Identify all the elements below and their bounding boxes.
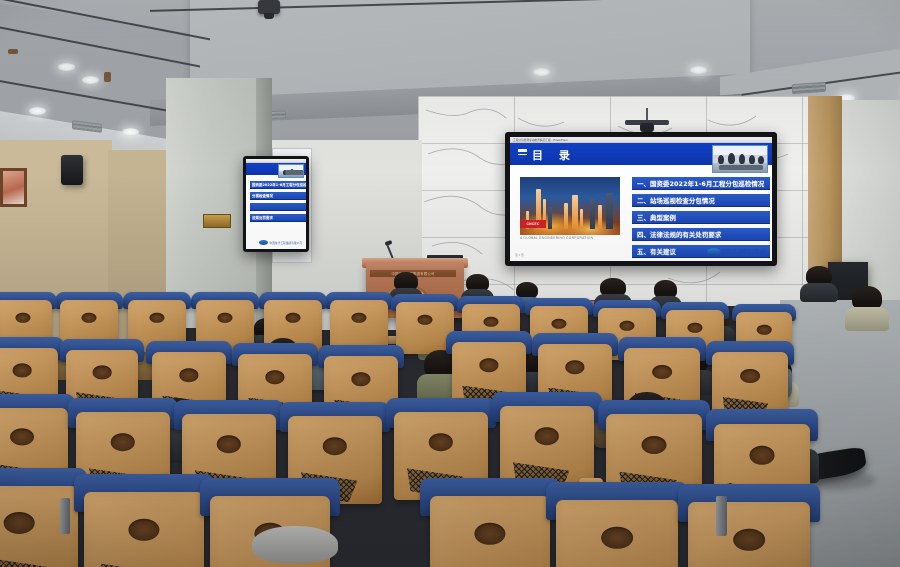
auditorium-seat[interactable] bbox=[430, 496, 550, 567]
auditorium-seat[interactable] bbox=[688, 502, 810, 567]
secondary-toc: 国资委2022年1-6月工程分包巡检情况 分视检查情况 法规处罚要求 bbox=[250, 181, 306, 225]
toc-item-label: 一、国资委2022年1-6月工程分包巡检情况 bbox=[632, 179, 764, 188]
attendee bbox=[806, 266, 832, 298]
presentation-slide: 工程分包管理专项检查情况汇报 - PowerPoint 目 录 bbox=[510, 137, 772, 261]
toc-item[interactable]: 一、国资委2022年1-6月工程分包巡检情况 bbox=[632, 177, 770, 190]
main-display[interactable]: 工程分包管理专项检查情况汇报 - PowerPoint 目 录 bbox=[505, 132, 777, 266]
toc-item[interactable]: 二、站场巡视检查分包情况 bbox=[632, 194, 770, 207]
secondary-slide: 国资委2022年1-6月工程分包巡检情况 分视检查情况 法规处罚要求 中国化学工… bbox=[246, 159, 306, 249]
downlight bbox=[82, 76, 99, 84]
slide-title: 目 录 bbox=[532, 147, 576, 163]
refinery-photo: CNCEC bbox=[520, 177, 620, 235]
toc-item-label: 法规处罚要求 bbox=[250, 215, 273, 220]
video-conference-inset[interactable] bbox=[712, 145, 768, 173]
downlight bbox=[58, 63, 75, 71]
downlight bbox=[122, 128, 139, 136]
camera-icon bbox=[640, 123, 654, 132]
company-name: 中国化学工程集团有限公司 bbox=[722, 249, 766, 254]
ppt-titlebar-text: 工程分包管理专项检查情况汇报 - PowerPoint bbox=[513, 138, 568, 142]
sprinkler-icon bbox=[8, 49, 18, 54]
wall-plaque bbox=[203, 214, 231, 228]
toc-item[interactable] bbox=[250, 203, 306, 211]
slide-page-note: 第 2 页 bbox=[515, 253, 524, 257]
auditorium-seat[interactable] bbox=[556, 500, 678, 567]
toc-item-label: 五、有关建议 bbox=[632, 247, 676, 256]
conference-hall-scene: 国资委2022年1-6月工程分包巡检情况 分视检查情况 法规处罚要求 中国化学工… bbox=[0, 0, 900, 567]
slide-footer-logo: 中国化学工程集团有限公司 bbox=[707, 248, 766, 255]
photo-caption: A GLOBAL ENGINEERING CORPORATION bbox=[520, 236, 630, 240]
secondary-footer-logo: 中国化学工程集团有限公司 bbox=[259, 240, 302, 245]
toc-item[interactable]: 国资委2022年1-6月工程分包巡检情况 bbox=[250, 181, 306, 189]
downlight bbox=[533, 68, 550, 76]
video-conference-inset-secondary bbox=[278, 164, 304, 178]
toc-item-label: 国资委2022年1-6月工程分包巡检情况 bbox=[250, 182, 306, 187]
company-logo-icon bbox=[259, 240, 268, 245]
attendee-foreground bbox=[252, 526, 338, 567]
downlight bbox=[690, 66, 707, 74]
company-logo-icon bbox=[707, 248, 720, 255]
toc-item-label: 分视检查情况 bbox=[250, 193, 273, 198]
company-name: 中国化学工程集团有限公司 bbox=[270, 241, 302, 245]
secondary-display[interactable]: 国资委2022年1-6月工程分包巡检情况 分视检查情况 法规处罚要求 中国化学工… bbox=[243, 156, 309, 252]
toc-item[interactable]: 法规处罚要求 bbox=[250, 214, 306, 222]
cncec-logo: CNCEC bbox=[520, 220, 546, 228]
toc-item[interactable]: 四、法律法规的有关处罚要求 bbox=[632, 228, 770, 241]
toc-item-label: 三、典型案例 bbox=[632, 213, 676, 222]
attendee bbox=[852, 286, 882, 326]
camera-icon bbox=[258, 0, 280, 14]
auditorium-seat[interactable] bbox=[84, 492, 204, 567]
framed-picture bbox=[0, 168, 27, 207]
toc-item[interactable]: 三、典型案例 bbox=[632, 211, 770, 224]
downlight bbox=[29, 107, 46, 115]
seat-leg bbox=[60, 498, 70, 534]
toc-item-label: 二、站场巡视检查分包情况 bbox=[632, 196, 715, 205]
seat-leg bbox=[716, 496, 727, 536]
list-icon bbox=[518, 149, 527, 158]
sprinkler-icon bbox=[104, 72, 111, 82]
speaker-icon bbox=[61, 155, 83, 185]
toc-item-label: 四、法律法规的有关处罚要求 bbox=[632, 230, 721, 239]
toc-item[interactable]: 分视检查情况 bbox=[250, 192, 306, 200]
